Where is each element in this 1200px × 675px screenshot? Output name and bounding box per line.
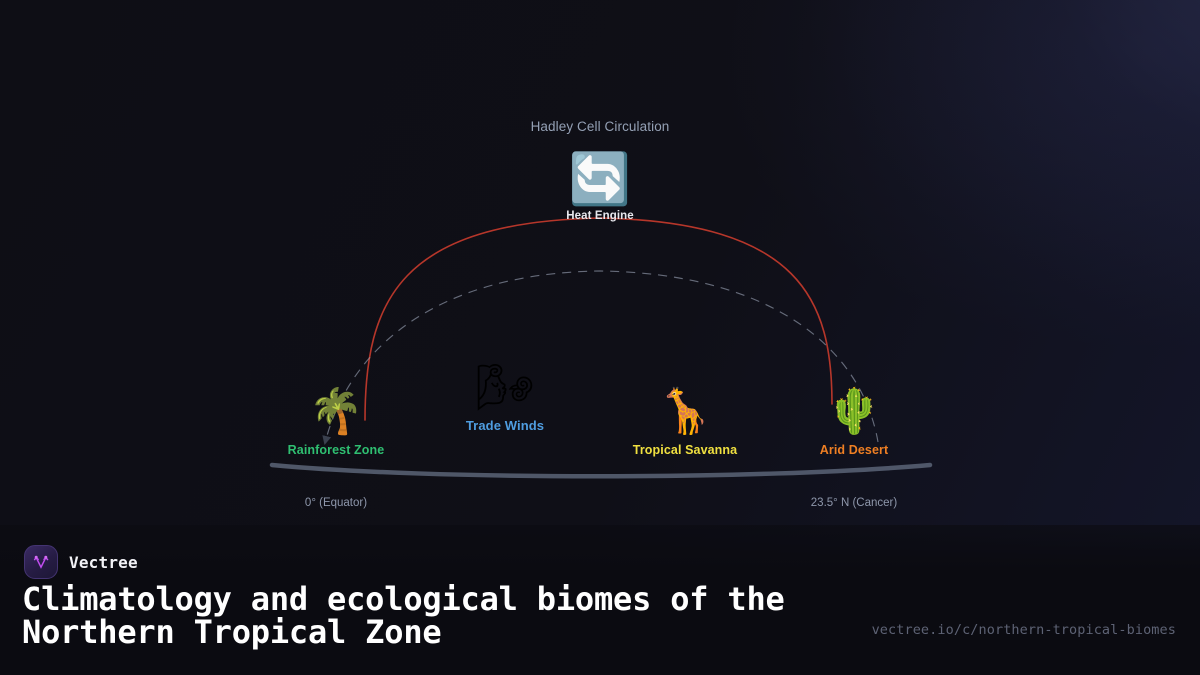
node-heat-engine[interactable]: 🔄 Heat Engine [566,154,634,222]
node-trade-winds[interactable]: 🌬 Trade Winds [466,364,544,433]
node-arid-desert[interactable]: 🌵 Arid Desert [820,390,888,457]
node-arid-desert-label: Arid Desert [820,443,888,457]
axis-tick-equator: 0° (Equator) [305,497,367,509]
footer-bar: Vectree Climatology and ecological biome… [0,525,1200,675]
edge-return-flow [325,271,878,443]
diagram-title: Hadley Cell Circulation [0,119,1200,134]
axis-tick-tropic-of-cancer: 23.5° N (Cancer) [811,497,897,509]
node-rainforest-zone-label: Rainforest Zone [288,443,385,457]
giraffe-icon: 🦒 [633,390,737,434]
diagram-canvas: Hadley Cell Circulation 🔄 Heat Engine 🌬 … [0,0,1200,525]
arrows-counterclockwise-icon: 🔄 [566,154,634,204]
node-tropical-savanna[interactable]: 🦒 Tropical Savanna [633,390,737,457]
node-heat-engine-label: Heat Engine [566,210,634,222]
page-url: vectree.io/c/northern-tropical-biomes [872,622,1176,638]
cactus-icon: 🌵 [820,390,888,434]
wind-face-icon: 🌬 [466,364,544,410]
edge-hadley-loop [365,218,832,420]
page-title: Climatology and ecological biomes of the… [22,583,842,649]
palm-tree-icon: 🌴 [288,390,385,434]
node-rainforest-zone[interactable]: 🌴 Rainforest Zone [288,390,385,457]
screenshot-root: Hadley Cell Circulation 🔄 Heat Engine 🌬 … [0,0,1200,675]
node-tropical-savanna-label: Tropical Savanna [633,443,737,457]
node-trade-winds-label: Trade Winds [466,418,544,433]
brand-name: Vectree [69,553,138,572]
ground-line [272,465,930,476]
brand-row[interactable]: Vectree [24,545,138,579]
vectree-logo-icon [24,545,58,579]
diagram-edges-layer [0,0,1200,525]
